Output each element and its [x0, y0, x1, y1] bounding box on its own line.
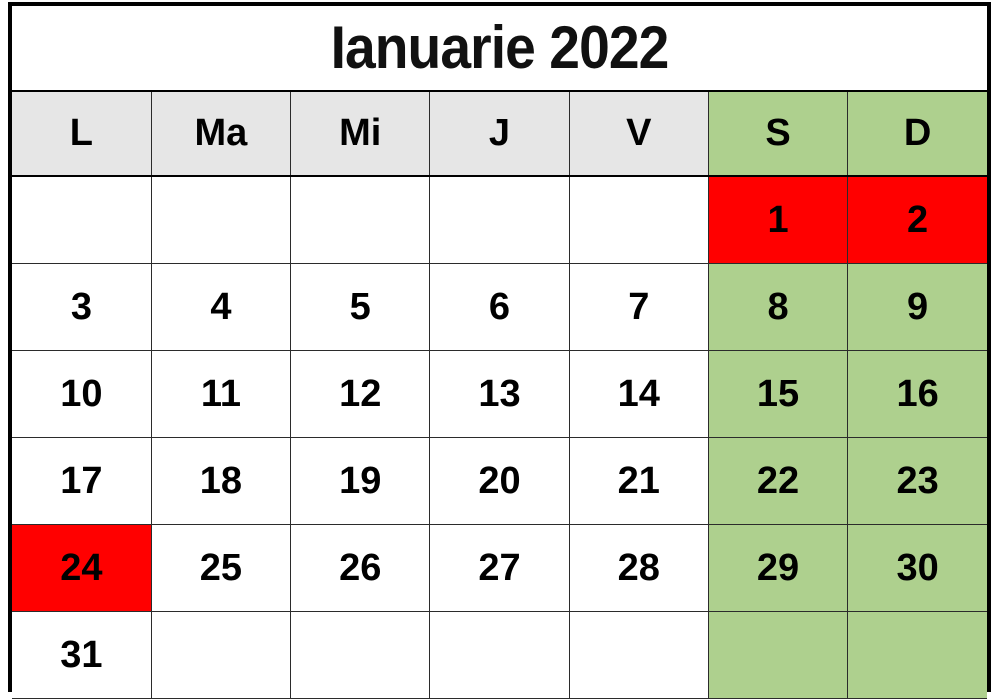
day-cell[interactable]: 14 — [569, 351, 708, 438]
page-title: Ianuarie 2022 — [51, 18, 948, 78]
day-cell-empty — [291, 176, 430, 264]
day-cell-weekend[interactable] — [708, 612, 847, 699]
calendar-week-row: 24252627282930 — [12, 525, 987, 612]
day-cell-empty — [12, 176, 151, 264]
day-cell-empty — [430, 612, 569, 699]
calendar-week-row: 17181920212223 — [12, 438, 987, 525]
day-cell-weekend[interactable]: 29 — [708, 525, 847, 612]
day-cell-weekend[interactable]: 23 — [848, 438, 987, 525]
day-cell[interactable]: 13 — [430, 351, 569, 438]
calendar-title-cell: Ianuarie 2022 — [12, 6, 987, 91]
day-cell[interactable]: 28 — [569, 525, 708, 612]
day-cell[interactable]: 7 — [569, 264, 708, 351]
day-cell-weekend[interactable]: 8 — [708, 264, 847, 351]
day-cell-weekend[interactable]: 15 — [708, 351, 847, 438]
day-of-week-header: Ma — [151, 91, 290, 176]
day-cell[interactable]: 12 — [291, 351, 430, 438]
day-cell-weekend[interactable]: 16 — [848, 351, 987, 438]
day-cell[interactable]: 17 — [12, 438, 151, 525]
day-cell-empty — [430, 176, 569, 264]
day-cell-holiday[interactable]: 24 — [12, 525, 151, 612]
calendar-table: Ianuarie 2022 LMaMiJVSD 1234567891011121… — [12, 6, 987, 699]
day-cell[interactable]: 4 — [151, 264, 290, 351]
day-cell-holiday[interactable]: 2 — [848, 176, 987, 264]
day-cell-weekend[interactable]: 22 — [708, 438, 847, 525]
day-cell[interactable]: 3 — [12, 264, 151, 351]
day-of-week-header: Mi — [291, 91, 430, 176]
day-of-week-header: D — [848, 91, 987, 176]
day-cell[interactable]: 19 — [291, 438, 430, 525]
day-of-week-header: J — [430, 91, 569, 176]
day-cell[interactable]: 20 — [430, 438, 569, 525]
day-cell-empty — [151, 176, 290, 264]
day-cell[interactable]: 18 — [151, 438, 290, 525]
day-cell[interactable]: 27 — [430, 525, 569, 612]
calendar-week-row: 3456789 — [12, 264, 987, 351]
calendar-week-row: 10111213141516 — [12, 351, 987, 438]
calendar-week-row: 31 — [12, 612, 987, 699]
day-of-week-header: S — [708, 91, 847, 176]
day-cell-holiday[interactable]: 1 — [708, 176, 847, 264]
calendar-week-row: 12 — [12, 176, 987, 264]
day-cell-weekend[interactable]: 30 — [848, 525, 987, 612]
calendar-title-row: Ianuarie 2022 — [12, 6, 987, 91]
day-cell[interactable]: 5 — [291, 264, 430, 351]
day-cell-weekend[interactable]: 9 — [848, 264, 987, 351]
day-cell-empty — [151, 612, 290, 699]
day-of-week-header-row: LMaMiJVSD — [12, 91, 987, 176]
day-cell-empty — [569, 176, 708, 264]
day-cell-empty — [569, 612, 708, 699]
day-cell[interactable]: 6 — [430, 264, 569, 351]
day-of-week-header: L — [12, 91, 151, 176]
day-cell-empty — [291, 612, 430, 699]
day-cell[interactable]: 31 — [12, 612, 151, 699]
calendar-widget: Ianuarie 2022 LMaMiJVSD 1234567891011121… — [8, 2, 991, 692]
day-cell[interactable]: 11 — [151, 351, 290, 438]
day-cell[interactable]: 10 — [12, 351, 151, 438]
day-of-week-header: V — [569, 91, 708, 176]
day-cell[interactable]: 21 — [569, 438, 708, 525]
day-cell[interactable]: 26 — [291, 525, 430, 612]
day-cell-weekend[interactable] — [848, 612, 987, 699]
day-cell[interactable]: 25 — [151, 525, 290, 612]
